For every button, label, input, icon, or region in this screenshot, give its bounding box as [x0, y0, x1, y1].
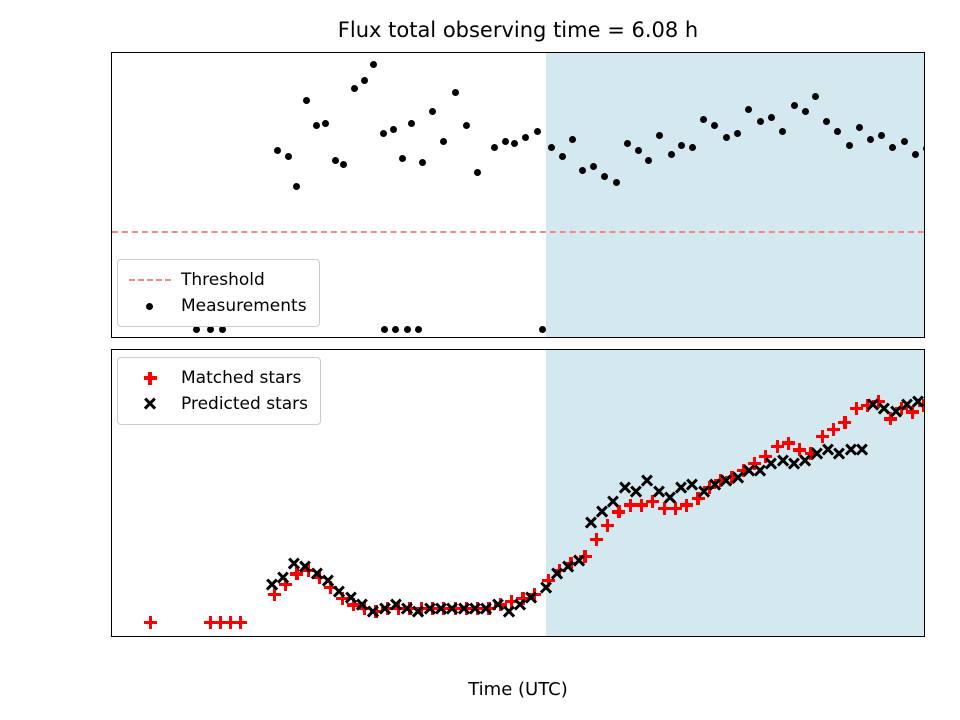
- x-tick-mark: [485, 636, 487, 637]
- data-point-measurement: [590, 163, 597, 170]
- x-tick-mark: [768, 338, 770, 339]
- data-point-measurement: [502, 138, 509, 145]
- data-point-measurement: [559, 153, 566, 160]
- data-point-measurement: [734, 130, 741, 137]
- x-tick-mark: [485, 338, 487, 339]
- cross-marker-icon: [127, 394, 173, 414]
- data-point-measurement: [381, 326, 388, 333]
- data-point-measurement: [380, 130, 387, 137]
- data-point-measurement: [878, 132, 885, 139]
- data-point-measurement: [539, 326, 546, 333]
- data-point-measurement: [901, 138, 908, 145]
- y-tick-mark: [111, 279, 112, 281]
- data-point-measurement: [678, 142, 685, 149]
- data-point-measurement: [745, 106, 752, 113]
- data-point-measurement: [569, 136, 576, 143]
- data-point-measurement: [452, 89, 459, 96]
- data-point-measurement: [689, 144, 696, 151]
- data-point-measurement: [579, 167, 586, 174]
- x-axis-label: Time (UTC): [111, 679, 925, 700]
- data-point-measurement: [656, 132, 663, 139]
- data-point-measurement: [511, 140, 518, 147]
- dot-marker-icon: [127, 296, 173, 316]
- x-tick-mark: [909, 338, 911, 339]
- data-point-measurement: [390, 126, 397, 133]
- x-tick-mark: [627, 338, 629, 339]
- x-tick-mark: [909, 636, 911, 637]
- data-point-measurement: [791, 102, 798, 109]
- x-tick-mark: [344, 338, 346, 339]
- data-point-measurement: [834, 128, 841, 135]
- legend-item-threshold: Threshold: [127, 267, 307, 293]
- data-point-measurement: [415, 326, 422, 333]
- legend-item-measurements: Measurements: [127, 293, 307, 319]
- data-point-measurement: [351, 85, 358, 92]
- legend-star-counts: Matched stars Predicted stars: [117, 357, 321, 425]
- data-point-measurement: [723, 134, 730, 141]
- data-point-measurement: [635, 147, 642, 154]
- y-tick-mark: [111, 133, 112, 135]
- data-point-measurement: [534, 128, 541, 135]
- legend-label-predicted-stars: Predicted stars: [181, 394, 308, 414]
- data-point-measurement: [474, 169, 481, 176]
- legend-item-matched-stars: Matched stars: [127, 365, 308, 391]
- x-tick-mark: [344, 636, 346, 637]
- data-point-measurement: [293, 183, 300, 190]
- y-tick-mark: [111, 608, 112, 610]
- data-point-measurement: [802, 108, 809, 115]
- data-point-measurement: [440, 138, 447, 145]
- data-point-measurement: [392, 326, 399, 333]
- data-point-measurement: [711, 122, 718, 129]
- data-point-measurement: [404, 326, 411, 333]
- data-point-measurement: [779, 128, 786, 135]
- data-point-measurement: [889, 144, 896, 151]
- data-point-measurement: [370, 61, 377, 68]
- x-tick-mark: [768, 636, 770, 637]
- figure: Flux total observing time = 6.08 h 0.000…: [0, 0, 960, 720]
- data-point-measurement: [399, 155, 406, 162]
- data-point-measurement: [548, 144, 555, 151]
- data-point-measurement: [361, 77, 368, 84]
- x-tick-mark: [627, 636, 629, 637]
- y-tick-mark: [111, 84, 112, 86]
- data-point-measurement: [624, 140, 631, 147]
- legend-item-predicted-stars: Predicted stars: [127, 391, 308, 417]
- threshold-line: [112, 231, 924, 233]
- data-point-measurement: [340, 161, 347, 168]
- data-point-measurement: [668, 151, 675, 158]
- legend-flux-ratio: Threshold Measurements: [117, 259, 320, 327]
- data-point-measurement: [601, 173, 608, 180]
- data-point-measurement: [522, 134, 529, 141]
- data-point-measurement: [285, 153, 292, 160]
- data-point-measurement: [912, 151, 919, 158]
- legend-label-threshold: Threshold: [181, 270, 265, 290]
- y-tick-mark: [111, 328, 112, 330]
- data-point-measurement: [768, 114, 775, 121]
- data-point-measurement: [812, 93, 819, 100]
- y-tick-mark: [111, 539, 112, 541]
- y-tick-mark: [111, 470, 112, 472]
- data-point-measurement: [429, 108, 436, 115]
- legend-label-matched-stars: Matched stars: [181, 368, 301, 388]
- data-point-measurement: [923, 145, 925, 152]
- y-tick-mark: [111, 230, 112, 232]
- x-tick-mark: [203, 636, 205, 637]
- data-point-measurement: [867, 136, 874, 143]
- data-point-measurement: [322, 120, 329, 127]
- plus-marker-icon: [127, 368, 173, 388]
- data-point-measurement: [274, 147, 281, 154]
- data-point-measurement: [645, 157, 652, 164]
- y-tick-mark: [111, 401, 112, 403]
- data-point-measurement: [463, 122, 470, 129]
- dashed-line-icon: [127, 270, 173, 290]
- data-point-measurement: [408, 120, 415, 127]
- data-point-measurement: [856, 124, 863, 131]
- data-point-measurement: [823, 118, 830, 125]
- data-point-measurement: [700, 116, 707, 123]
- data-point-measurement: [757, 118, 764, 125]
- data-point-measurement: [613, 179, 620, 186]
- y-tick-mark: [111, 181, 112, 183]
- data-point-measurement: [303, 97, 310, 104]
- data-point-measurement: [313, 122, 320, 129]
- data-point-measurement: [846, 142, 853, 149]
- x-tick-mark: [203, 338, 205, 339]
- chart-title: Flux total observing time = 6.08 h: [111, 18, 925, 42]
- data-point-measurement: [419, 159, 426, 166]
- data-point-measurement: [332, 157, 339, 164]
- legend-label-measurements: Measurements: [181, 296, 307, 316]
- data-point-measurement: [491, 144, 498, 151]
